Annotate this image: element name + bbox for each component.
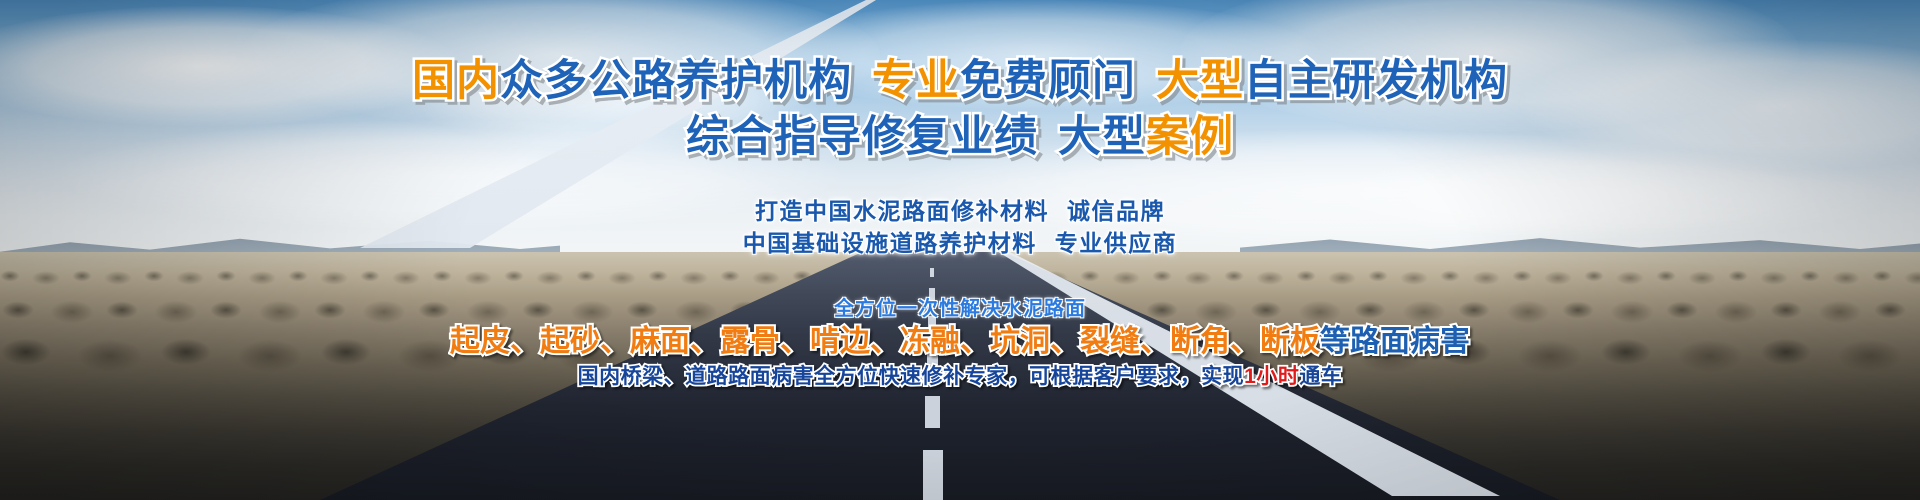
guarantee-line: 国内桥梁、道路路面病害全方位快速修补专家，可根据客户要求，实现1小时通车	[0, 360, 1920, 390]
headline-segment-guidance: 综合指导修复业绩	[686, 113, 1038, 161]
headline-segment-professional: 专业	[872, 57, 960, 105]
promotional-banner: 国内众多公路养护机构专业免费顾问大型自主研发机构 综合指导修复业绩大型案例 打造…	[0, 0, 1920, 500]
tagline-supplier: 专业供应商	[1055, 230, 1178, 256]
disease-list: 起皮、起砂、麻面、露骨、啃边、冻融、坑洞、裂缝、断角、断板	[450, 325, 1320, 358]
guarantee-time-highlight: 1小时	[1244, 365, 1299, 388]
guarantee-prefix: 国内桥梁、道路路面病害全方位快速修补专家，可根据客户要求，实现	[578, 365, 1245, 388]
headline-line-2: 综合指导修复业绩大型案例	[0, 102, 1920, 164]
tagline-trusted-brand: 诚信品牌	[1067, 198, 1165, 224]
headline-segment-large-scale: 大型	[1156, 57, 1244, 105]
pavement-disease-line: 起皮、起砂、麻面、露骨、啃边、冻融、坑洞、裂缝、断角、断板等路面病害	[0, 316, 1920, 360]
headline-segment-cases: 案例	[1146, 113, 1234, 161]
headline-segment-domestic: 国内	[412, 57, 500, 105]
tagline-line-1: 打造中国水泥路面修补材料诚信品牌	[0, 192, 1920, 226]
tagline-repair-material: 打造中国水泥路面修补材料	[755, 198, 1049, 224]
headline-segment-rnd: 自主研发机构	[1244, 57, 1508, 105]
headline-segment-agencies: 众多公路养护机构	[500, 57, 852, 105]
tagline-line-2: 中国基础设施道路养护材料专业供应商	[0, 224, 1920, 258]
tagline-infrastructure-material: 中国基础设施道路养护材料	[743, 230, 1037, 256]
guarantee-suffix: 通车	[1299, 365, 1342, 388]
headline-segment-large: 大型	[1058, 113, 1146, 161]
disease-suffix: 等路面病害	[1320, 325, 1470, 358]
headline-line-1: 国内众多公路养护机构专业免费顾问大型自主研发机构	[0, 46, 1920, 108]
headline-segment-free-consult: 免费顾问	[960, 57, 1136, 105]
